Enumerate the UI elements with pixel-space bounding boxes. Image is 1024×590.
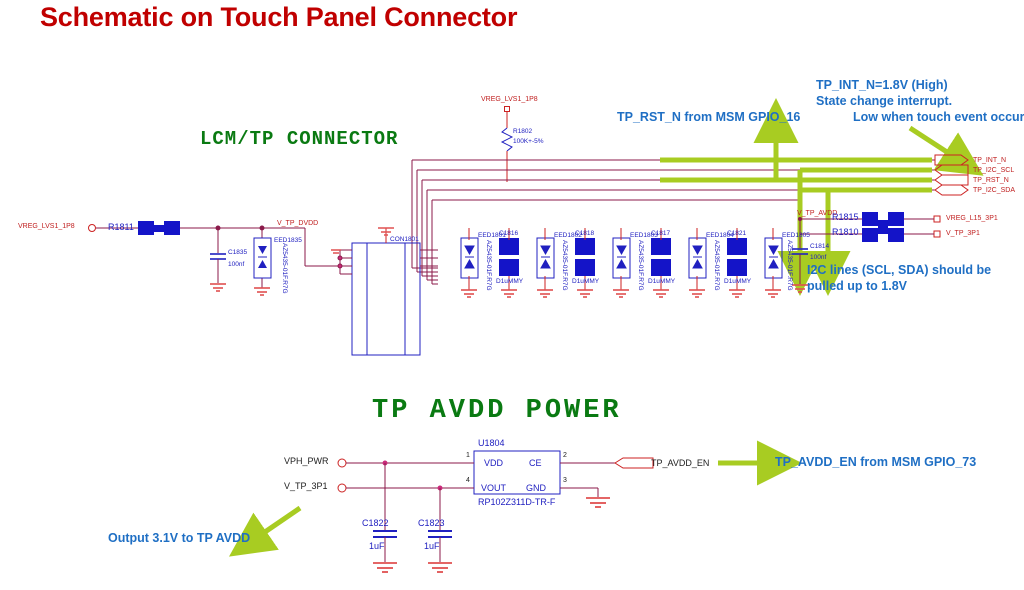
capacitor-c1814 (792, 219, 808, 292)
note-tp-rst: TP_RST_N from MSM GPIO_16 (617, 110, 800, 125)
port-vreg-l15-3p1 (934, 216, 940, 222)
pin-number-1: 1 (466, 452, 470, 459)
pin-name-vout: VOUT (481, 483, 506, 493)
pin-name-ce: CE (529, 458, 542, 468)
netlabel-v-tp-dvdd: V_TP_DVDD (277, 220, 318, 227)
part-number-u1804: RP102Z311D-TR-F (478, 497, 555, 507)
note-i2c-line1: I2C lines (SCL, SDA) should be (807, 263, 991, 278)
value-c1822: 1uF (369, 541, 385, 551)
refdes-con1801: CON1801 (390, 236, 419, 243)
refdes-r1815: R1815 (832, 212, 859, 222)
refdes-c1835: C1835 (228, 249, 247, 256)
refdes-r1811: R1811 (108, 222, 134, 232)
netlabel-tp-int-n: TP_INT_N (973, 157, 1006, 164)
refdes-c1817: C1817 (651, 230, 670, 237)
esd-diode-eed1835 (254, 238, 271, 278)
port-tp-i2c-scl (935, 165, 968, 175)
value-eed1803: AZ5435-01F.R7G (637, 240, 644, 291)
note-avdd-en: TP_AVDD_EN from MSM GPIO_73 (775, 455, 976, 470)
port-tp-avdd-en (615, 458, 653, 468)
ground-symbols-array (461, 290, 781, 297)
refdes-c1821: C1821 (727, 230, 746, 237)
capacitor-c1835 (210, 254, 226, 259)
netlabel-tp-rst-n: TP_RST_N (973, 177, 1009, 184)
port-tp-int-n (935, 155, 968, 165)
netlabel-tp-i2c-sda: TP_I2C_SDA (973, 187, 1015, 194)
pin-name-gnd: GND (526, 483, 546, 493)
value-c1821: D1uMMY (724, 278, 751, 285)
netlabel-tp-avdd-en: TP_AVDD_EN (651, 458, 709, 468)
label-vph-pwr: VPH_PWR (284, 456, 329, 466)
value-eed1802: AZ5435-01F.R7G (561, 240, 568, 291)
note-tp-int-line2: State change interrupt. (816, 94, 952, 109)
note-i2c-line2: pulled up to 1.8V (807, 279, 907, 294)
refdes-r1802: R1802 (513, 128, 532, 135)
refdes-c1814: C1814 (810, 243, 829, 250)
netlabel-tp-i2c-scl: TP_I2C_SCL (973, 167, 1014, 174)
port-tp-i2c-sda (935, 185, 968, 195)
netlabel-vreg-l15-3p1: VREG_L15_3P1 (946, 215, 998, 222)
pin-number-2: 2 (563, 452, 567, 459)
ground-symbols-avdd (373, 563, 452, 572)
refdes-c1818: C1818 (575, 230, 594, 237)
value-c1818: D1uMMY (572, 278, 599, 285)
highlight-traces (660, 160, 932, 215)
refdes-u1804: U1804 (478, 438, 505, 448)
value-c1817: D1uMMY (648, 278, 675, 285)
value-eed1801: AZ5435-01F.R7G (485, 240, 492, 291)
netlabel-v-tp-3p1: V_TP_3P1 (946, 230, 980, 237)
supply-pullup-branch (502, 107, 512, 183)
connector-con1801[interactable] (305, 228, 438, 355)
value-c1835: 100nf (228, 261, 244, 268)
note-output-31v: Output 3.1V to TP AVDD (108, 531, 250, 546)
netlabel-vreg-lvs1-1p8-top: VREG_LVS1_1P8 (481, 96, 538, 103)
arrow-output-31v (262, 508, 300, 534)
value-c1823: 1uF (424, 541, 440, 551)
value-eed1835: AZ5435-01F.R7G (281, 243, 288, 294)
right-port-symbols[interactable] (934, 155, 968, 237)
refdes-c1823: C1823 (418, 518, 445, 528)
arrow-int-down (910, 128, 950, 154)
refdes-eed1805: EED1805 (782, 232, 810, 239)
pin-name-vdd: VDD (484, 458, 503, 468)
ground-symbols-left (210, 284, 270, 295)
pin-number-4: 4 (466, 477, 470, 484)
value-eed1805: AZ5435-01F.R7G (786, 240, 793, 291)
pin-number-3: 3 (563, 477, 567, 484)
port-tp-rst-n (935, 175, 968, 185)
refdes-c1816: C1816 (499, 230, 518, 237)
note-tp-int-line3: Low when touch event occurs (853, 110, 1024, 125)
value-c1814: 100nf (810, 254, 826, 261)
value-eed1804: AZ5435-01F.R7G (713, 240, 720, 291)
value-r1802: 100K+-5% (513, 138, 544, 145)
refdes-c1822: C1822 (362, 518, 389, 528)
netlabel-vreg-lvs1-1p8-left: VREG_LVS1_1P8 (18, 223, 75, 230)
value-c1816: D1uMMY (496, 278, 523, 285)
label-v-tp-3p1-in: V_TP_3P1 (284, 481, 328, 491)
note-tp-int-line1: TP_INT_N=1.8V (High) (816, 78, 948, 93)
refdes-r1810: R1810 (832, 227, 859, 237)
avdd-power-circuit (338, 451, 653, 572)
port-v-tp-3p1 (934, 231, 940, 237)
